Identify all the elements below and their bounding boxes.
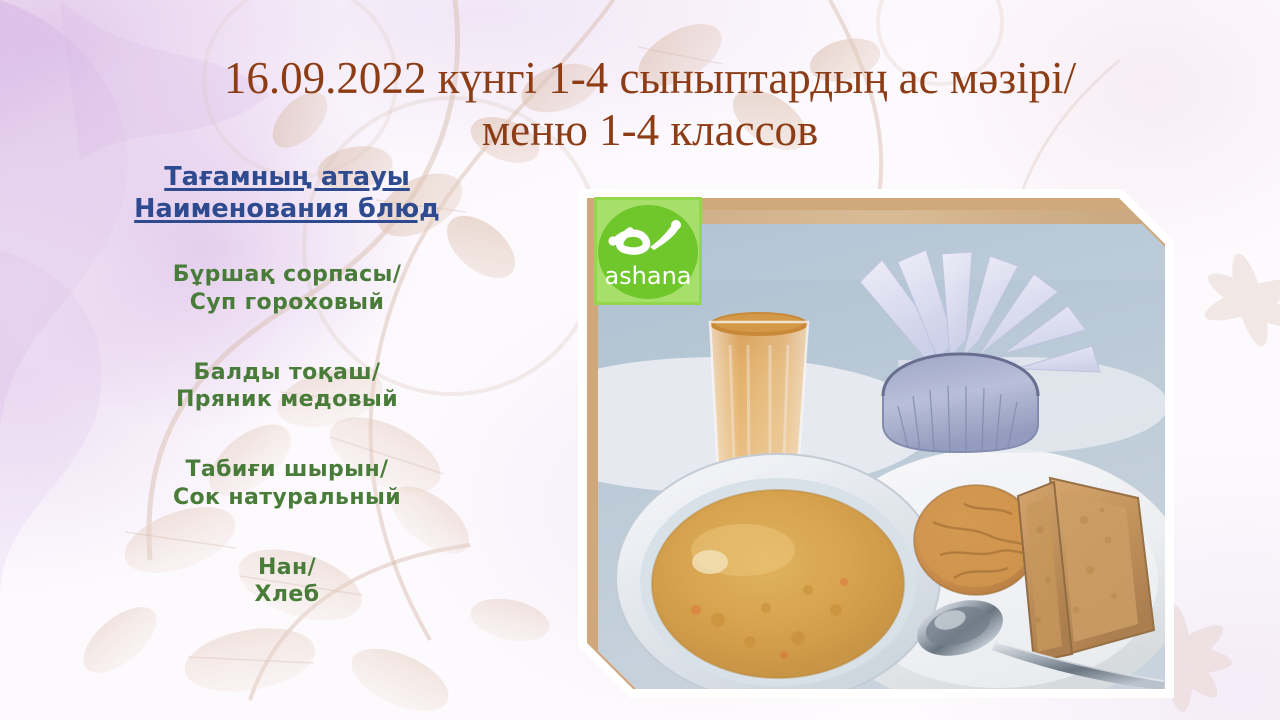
menu-item-juice: Табиғи шырын/ Сок натуральный [52,456,522,511]
menu-column: Тағамның атауы Наименования блюд Бұршақ … [52,162,522,609]
menu-item-bread: Нан/ Хлеб [52,554,522,609]
page-title: 16.09.2022 күнгі 1-4 сыныптардың ас мәзі… [120,52,1180,156]
ashana-logo: ashana [594,197,702,305]
logo-wordmark: ashana [604,262,691,290]
menu-items-list: Бұршақ сорпасы/ Суп гороховый Балды тоқа… [52,261,522,609]
menu-slide: 16.09.2022 күнгі 1-4 сыныптардың ас мәзі… [0,0,1280,720]
menu-column-header: Тағамның атауы Наименования блюд [52,162,522,225]
menu-item-pryanik: Балды тоқаш/ Пряник медовый [52,359,522,414]
menu-item-soup: Бұршақ сорпасы/ Суп гороховый [52,261,522,316]
